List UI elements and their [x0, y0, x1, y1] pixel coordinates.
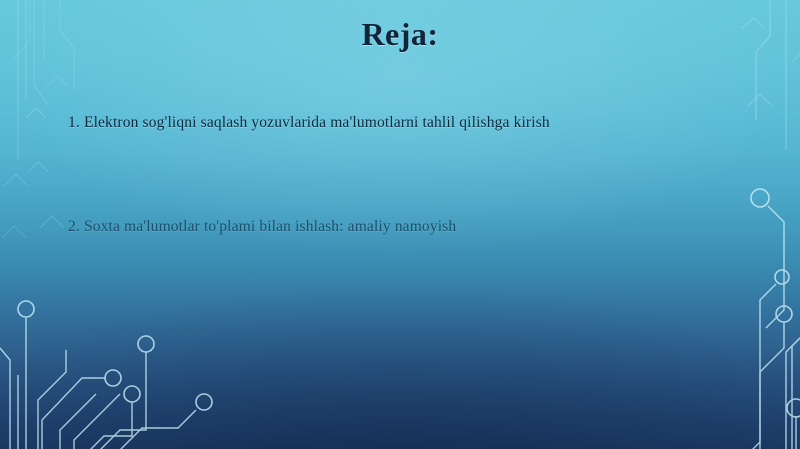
list-item: 1. Elektron sog'liqni saqlash yozuvlarid…: [68, 112, 748, 216]
list-item: 3. Natijalar va xulosalar: [68, 320, 748, 424]
agenda-list: 1. Elektron sog'liqni saqlash yozuvlarid…: [68, 112, 748, 424]
list-item: 2. Soxta ma'lumotlar to'plami bilan ishl…: [68, 216, 748, 320]
agenda-item-2-label: 2. Soxta ma'lumotlar to'plami bilan ishl…: [68, 216, 456, 238]
page-title: Reja:: [0, 16, 800, 53]
agenda-item-1-label: 1. Elektron sog'liqni saqlash yozuvlarid…: [68, 112, 550, 134]
slide-content: Reja: 1. Elektron sog'liqni saqlash yozu…: [0, 0, 800, 449]
presentation-slide: Reja: 1. Elektron sog'liqni saqlash yozu…: [0, 0, 800, 449]
agenda-item-3-label: 3. Natijalar va xulosalar: [68, 320, 221, 342]
